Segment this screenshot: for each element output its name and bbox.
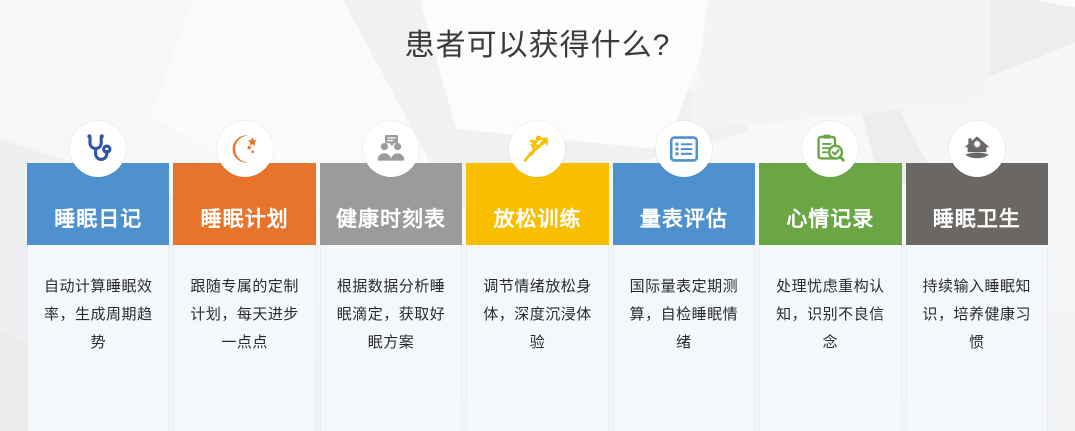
stethoscope-icon: [70, 121, 126, 177]
feature-card-sleep-plan[interactable]: 睡眠计划 跟随专属的定制计划，每天进步一点点: [173, 163, 315, 431]
card-header: 放松训练: [466, 163, 608, 245]
card-body: 处理忧虑重构认知，识别不良信念: [759, 245, 901, 431]
card-description: 根据数据分析睡眠滴定，获取好眠方案: [333, 273, 449, 357]
feature-card-scale-assessment[interactable]: 量表评估 国际量表定期测算，自检睡眠情绪: [613, 163, 755, 431]
card-header: 量表评估: [613, 163, 755, 245]
moon-stars-icon: [217, 121, 273, 177]
card-header: 睡眠计划: [173, 163, 315, 245]
feature-card-row: 睡眠日记 自动计算睡眠效率，生成周期趋势 睡眠计划: [27, 163, 1048, 431]
house-bed-icon: [949, 121, 1005, 177]
card-body: 持续输入睡眠知识，培养健康习惯: [906, 245, 1048, 431]
card-title: 睡眠日记: [54, 208, 142, 232]
card-title: 健康时刻表: [336, 208, 446, 232]
card-body: 国际量表定期测算，自检睡眠情绪: [613, 245, 755, 431]
card-title: 睡眠卫生: [933, 208, 1021, 232]
feature-card-sleep-hygiene[interactable]: 睡眠卫生 持续输入睡眠知识，培养健康习惯: [906, 163, 1048, 431]
slide-canvas: 患者可以获得什么? 睡眠日记: [0, 0, 1075, 431]
checklist-icon: [656, 121, 712, 177]
feature-card-health-timetable[interactable]: 健康时刻表 根据数据分析睡眠滴定，获取好眠方案: [320, 163, 462, 431]
clipboard-search-icon: [802, 121, 858, 177]
card-description: 自动计算睡眠效率，生成周期趋势: [40, 273, 156, 357]
card-description: 持续输入睡眠知识，培养健康习惯: [919, 273, 1035, 357]
card-title: 心情记录: [786, 208, 874, 232]
card-body: 跟随专属的定制计划，每天进步一点点: [173, 245, 315, 431]
card-body: 自动计算睡眠效率，生成周期趋势: [27, 245, 169, 431]
card-body: 根据数据分析睡眠滴定，获取好眠方案: [320, 245, 462, 431]
card-title: 量表评估: [640, 208, 728, 232]
card-header: 心情记录: [759, 163, 901, 245]
feature-card-relaxation-training[interactable]: 放松训练 调节情绪放松身体，深度沉浸体验: [466, 163, 608, 431]
card-description: 处理忧虑重构认知，识别不良信念: [772, 273, 888, 357]
card-body: 调节情绪放松身体，深度沉浸体验: [466, 245, 608, 431]
page-title: 患者可以获得什么?: [0, 26, 1075, 66]
card-header: 睡眠卫生: [906, 163, 1048, 245]
running-arrow-icon: [509, 121, 565, 177]
card-description: 调节情绪放松身体，深度沉浸体验: [479, 273, 595, 357]
card-title: 放松训练: [493, 208, 581, 232]
card-title: 睡眠计划: [201, 208, 289, 232]
card-header: 睡眠日记: [27, 163, 169, 245]
card-description: 国际量表定期测算，自检睡眠情绪: [626, 273, 742, 357]
card-header: 健康时刻表: [320, 163, 462, 245]
feature-card-mood-record[interactable]: 心情记录 处理忧虑重构认知，识别不良信念: [759, 163, 901, 431]
card-description: 跟随专属的定制计划，每天进步一点点: [186, 273, 302, 357]
feature-card-sleep-diary[interactable]: 睡眠日记 自动计算睡眠效率，生成周期趋势: [27, 163, 169, 431]
people-chat-icon: [363, 121, 419, 177]
